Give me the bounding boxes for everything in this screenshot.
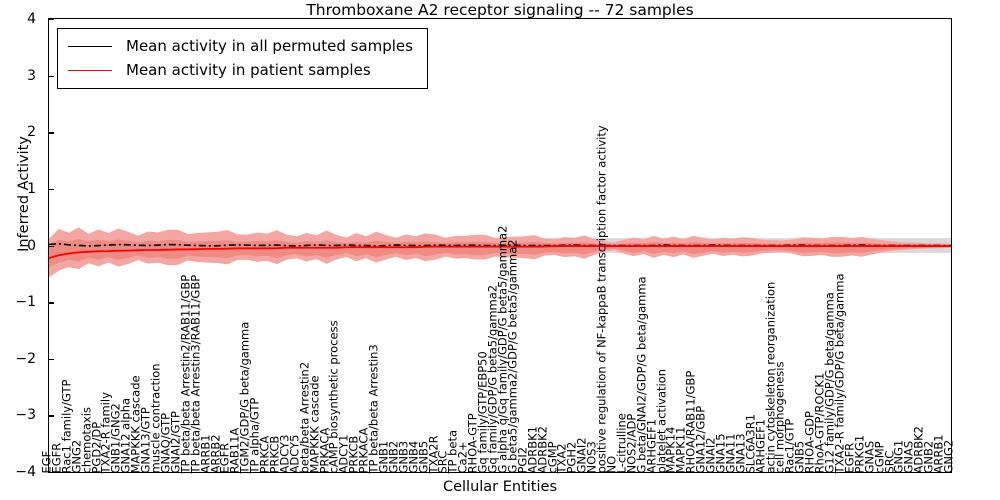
x-axis-title: Cellular Entities [0, 479, 1000, 495]
y-tick-mark [48, 246, 54, 247]
legend-item-patient: Mean activity in patient samples [68, 58, 413, 82]
legend-swatch-permuted [68, 46, 112, 47]
y-tick-mark [48, 76, 54, 77]
y-tick-mark [48, 19, 54, 20]
y-tick-mark [48, 359, 54, 360]
y-tick-mark [48, 472, 54, 473]
y-tick-mark [48, 415, 54, 416]
legend-label-patient: Mean activity in patient samples [126, 61, 371, 79]
y-tick-mark [48, 132, 54, 133]
y-tick-mark [48, 302, 54, 303]
x-tick-label: positive regulation of NF-kappaB transcr… [597, 125, 609, 473]
legend-label-permuted: Mean activity in all permuted samples [126, 37, 413, 55]
legend-item-permuted: Mean activity in all permuted samples [68, 34, 413, 58]
legend-swatch-patient [68, 70, 112, 71]
chart-root: Thromboxane A2 receptor signaling -- 72 … [0, 0, 1000, 500]
chart-legend: Mean activity in all permuted samples Me… [57, 28, 428, 89]
x-tick-label: GNG2 [944, 439, 956, 473]
x-tick-label: G beta5/gamma2/GDP/G beta5/gamma2 [507, 239, 519, 473]
y-tick-mark [48, 189, 54, 190]
